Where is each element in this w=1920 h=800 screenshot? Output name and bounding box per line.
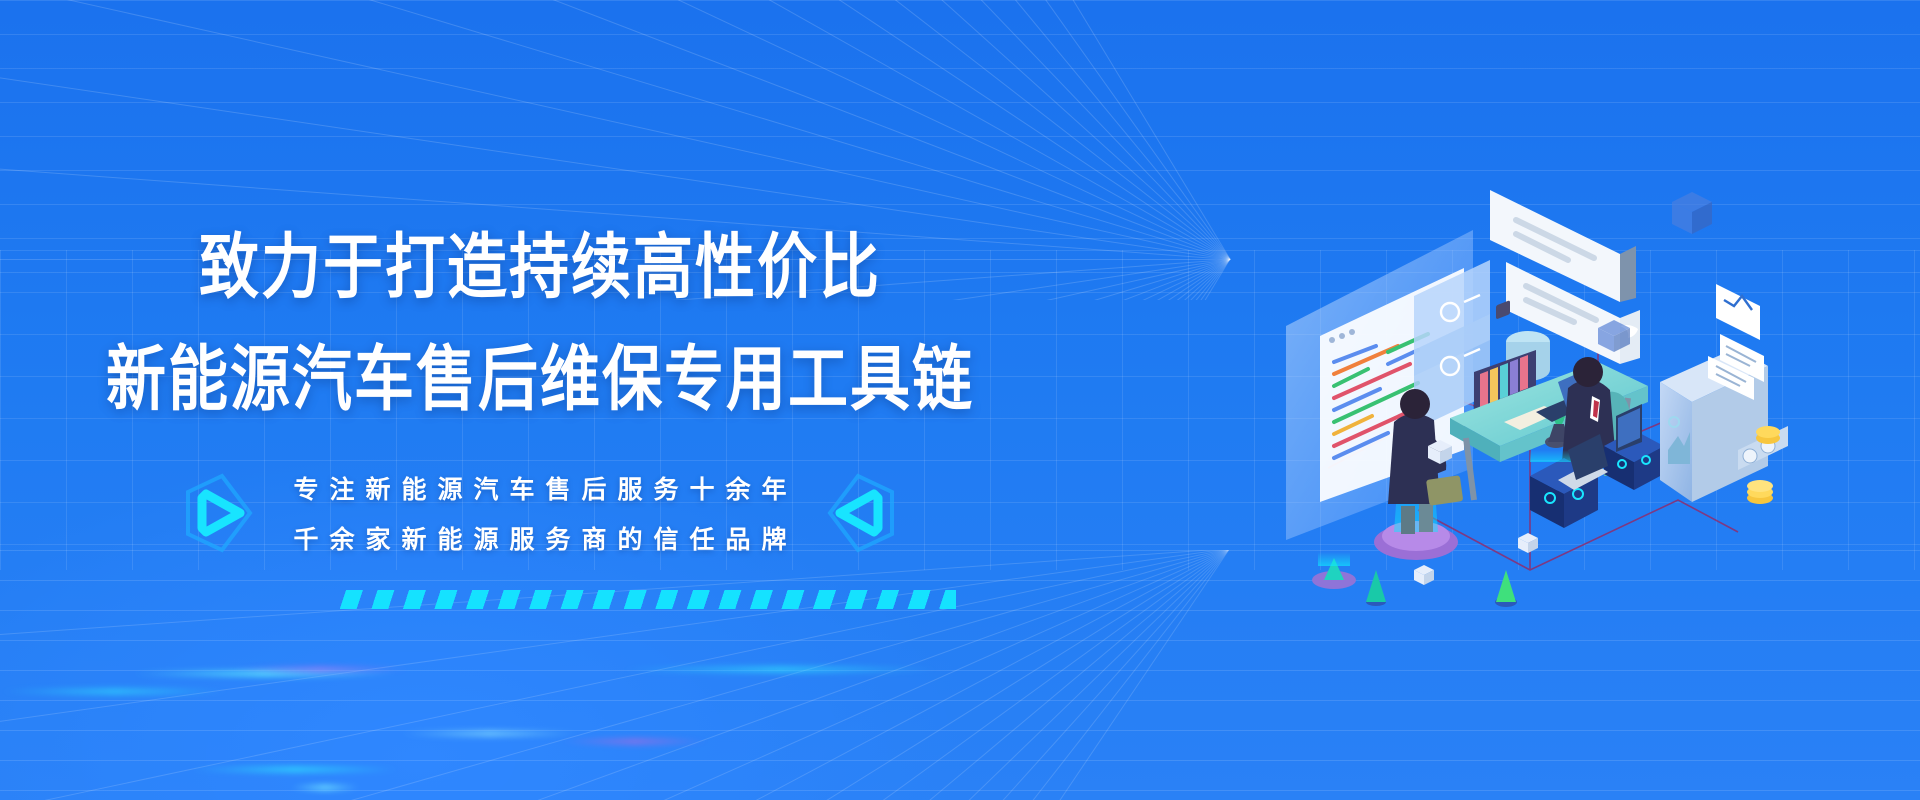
subtitle-line-1: 专注新能源汽车售后服务十余年 <box>282 470 797 506</box>
subtitle-lines: 专注新能源汽车售后服务十余年 千余家新能源服务商的信任品牌 <box>282 470 797 556</box>
decorative-stripe-bar <box>336 590 956 609</box>
isometric-illustration <box>1268 150 1788 620</box>
play-left-arrow-icon <box>824 470 898 556</box>
subtitle-row: 专注新能源汽车售后服务十余年 千余家新能源服务商的信任品牌 <box>0 470 1080 556</box>
banner-copy: 致力于打造持续高性价比 新能源汽车售后维保专用工具链 专注新能源汽车售后服务十余… <box>0 0 1080 800</box>
hero-banner: 致力于打造持续高性价比 新能源汽车售后维保专用工具链 专注新能源汽车售后服务十余… <box>0 0 1920 800</box>
play-right-arrow-icon <box>182 470 256 556</box>
headline-line-2: 新能源汽车售后维保专用工具链 <box>0 322 1080 425</box>
subtitle-line-2: 千余家新能源服务商的信任品牌 <box>282 520 797 556</box>
headline-line-1: 致力于打造持续高性价比 <box>0 210 1080 313</box>
